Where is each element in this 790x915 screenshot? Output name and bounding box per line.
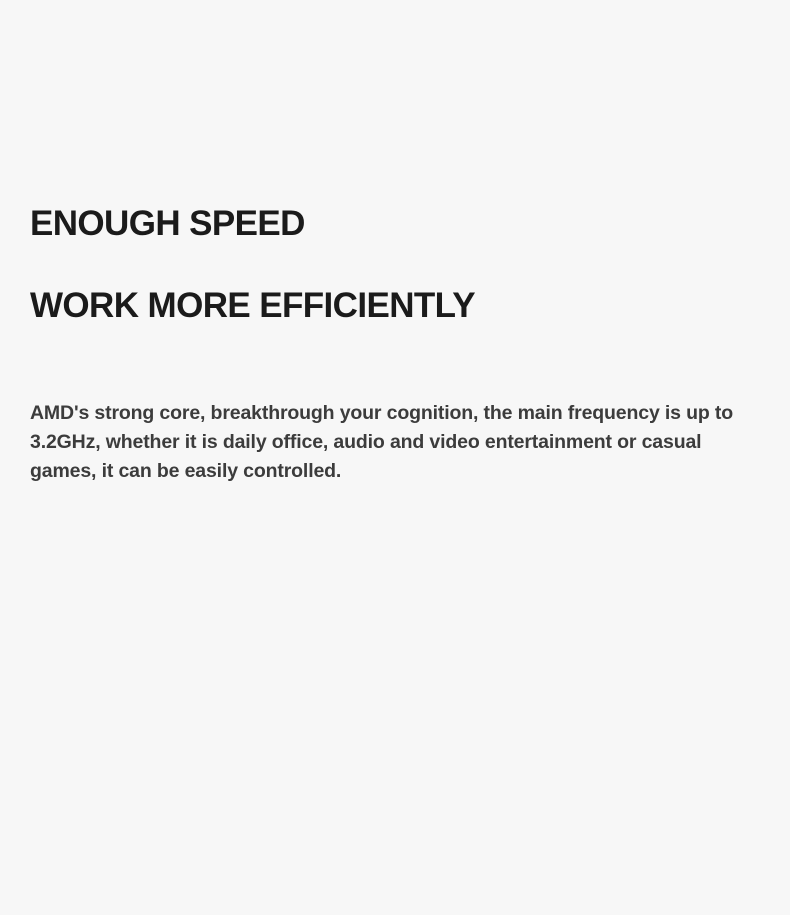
product-image: Web Office Game <box>0 500 790 915</box>
page-title: ENOUGH SPEED WORK MORE EFFICIENTLY <box>30 163 760 368</box>
body-paragraph: AMD's strong core, breakthrough your cog… <box>30 399 755 487</box>
headline-line-1: ENOUGH SPEED <box>30 204 760 245</box>
headline-line-2: WORK MORE EFFICIENTLY <box>30 286 760 327</box>
copy-block: ENOUGH SPEED WORK MORE EFFICIENTLY AMD's… <box>30 163 760 486</box>
